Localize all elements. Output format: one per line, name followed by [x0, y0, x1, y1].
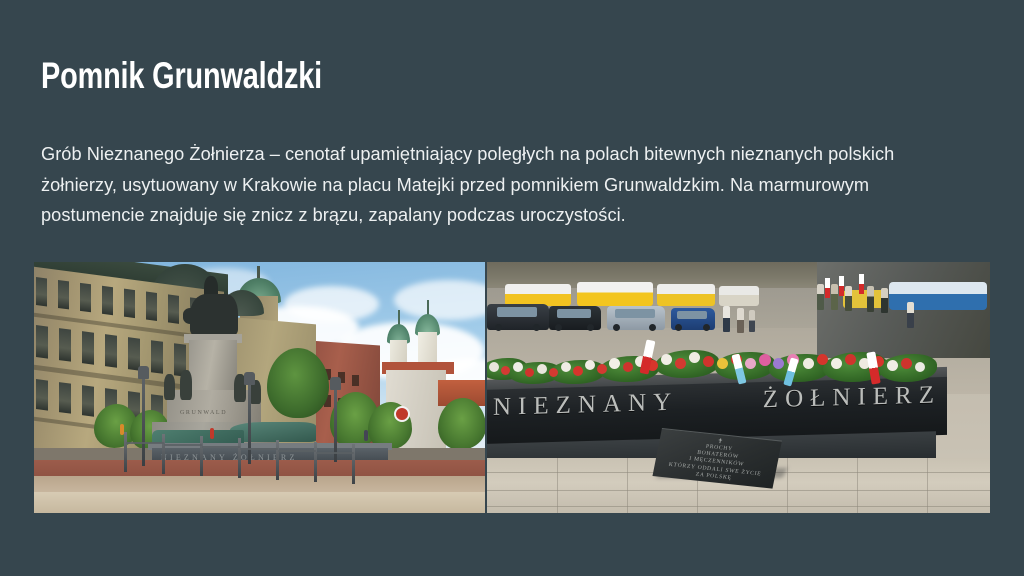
flower: [501, 366, 510, 375]
fence-post: [276, 440, 279, 480]
bronze-figure: [164, 374, 175, 400]
honour-guard: [881, 288, 888, 313]
lamp-head: [138, 366, 149, 379]
flower: [561, 362, 571, 372]
fence-post: [238, 438, 241, 478]
flower: [585, 360, 595, 370]
flower: [759, 354, 771, 366]
fence-post: [352, 444, 355, 484]
fence-post: [162, 434, 165, 474]
bus: [505, 284, 571, 306]
flower: [703, 356, 714, 367]
monument-column: [189, 340, 237, 396]
flower: [525, 368, 534, 377]
road-sign: [394, 406, 410, 422]
flower: [609, 358, 620, 369]
flower: [817, 354, 828, 365]
photo-grunwald-monument: GRUNWALD NIEZNANY ŻOŁNIERZ: [34, 262, 485, 513]
pedestrian: [737, 308, 744, 333]
photo-tomb-unknown-soldier: NIEZNANY ŻOŁNIERZ: [487, 262, 990, 513]
polish-flag: [839, 276, 844, 296]
pedestrian: [210, 428, 214, 439]
flower: [845, 354, 856, 365]
pedestrian: [907, 302, 914, 328]
lamp-head: [330, 377, 341, 390]
honour-guard: [867, 286, 874, 312]
presentation-slide: Pomnik Grunwaldzki Grób Nieznanego Żołni…: [0, 0, 1024, 576]
bus: [889, 282, 987, 310]
polish-flag: [825, 278, 830, 298]
tree: [438, 398, 485, 450]
flower: [745, 358, 756, 369]
bronze-figure: [180, 370, 192, 400]
horse-head: [183, 308, 201, 324]
flower: [489, 362, 499, 372]
photo-row: GRUNWALD NIEZNANY ŻOŁNIERZ: [34, 262, 990, 513]
fence-post: [124, 432, 127, 472]
flower: [549, 368, 558, 377]
flower: [901, 358, 912, 369]
lamppost: [142, 374, 145, 466]
flower: [597, 364, 607, 374]
flower: [803, 358, 814, 369]
honour-guard: [817, 284, 824, 310]
flower: [623, 362, 633, 372]
flower: [675, 358, 686, 369]
bus: [577, 282, 653, 306]
pedestrian: [120, 424, 124, 435]
flower: [537, 364, 547, 374]
flower: [831, 358, 842, 369]
fence-post: [200, 436, 203, 476]
flower: [887, 360, 898, 371]
flower: [573, 366, 583, 376]
bus: [657, 284, 715, 306]
lamp-head: [244, 372, 255, 385]
flower: [915, 362, 925, 372]
bus: [719, 286, 759, 306]
flower: [717, 358, 728, 369]
pedestrian: [364, 430, 368, 441]
page-title: Pomnik Grunwaldzki: [41, 54, 743, 98]
flower: [773, 358, 784, 369]
monument-inscription: GRUNWALD: [180, 410, 227, 416]
lamppost: [248, 380, 251, 464]
tree: [267, 348, 329, 418]
pedestrian: [749, 310, 755, 332]
pavement-foreground: [34, 492, 485, 513]
window: [352, 375, 359, 386]
slide-body-text: Grób Nieznanego Żołnierza – cenotaf upam…: [41, 139, 971, 231]
flower: [513, 362, 523, 372]
inscription-nieznany: NIEZNANY: [493, 389, 678, 422]
pedestrian: [723, 306, 730, 332]
fence-post: [314, 442, 317, 482]
polish-flag: [859, 274, 864, 294]
honour-guard: [831, 284, 838, 310]
lamppost: [334, 384, 337, 462]
honour-guard: [845, 286, 852, 311]
flower: [689, 352, 700, 363]
flower: [661, 354, 672, 365]
